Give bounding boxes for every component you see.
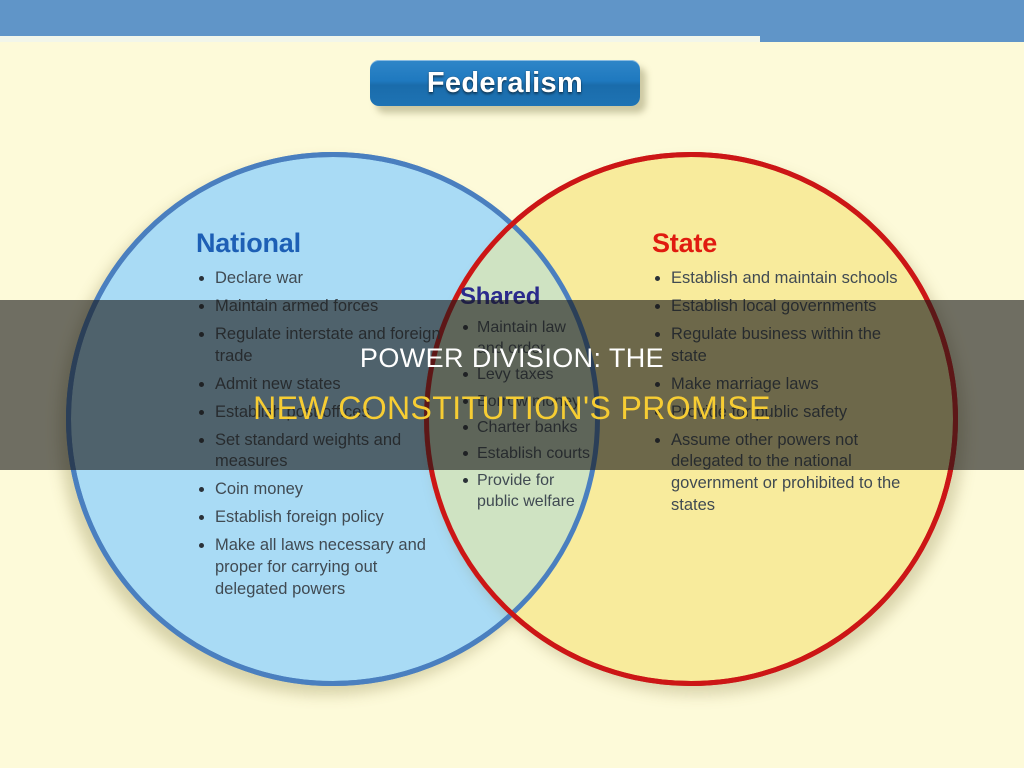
caption-line-2: NEW CONSTITUTION'S PROMISE bbox=[253, 390, 771, 427]
list-item: Provide for public welfare bbox=[460, 470, 590, 513]
caption-overlay: POWER DIVISION: THE NEW CONSTITUTION'S P… bbox=[0, 300, 1024, 470]
list-item: Establish and maintain schools bbox=[652, 268, 904, 290]
list-item: Coin money bbox=[196, 479, 446, 501]
federalism-title-plaque: Federalism bbox=[370, 60, 640, 106]
list-item: Make all laws necessary and proper for c… bbox=[196, 535, 446, 601]
list-item: Establish foreign policy bbox=[196, 507, 446, 529]
slide-canvas: Federalism National Declare war Maintain… bbox=[0, 0, 1024, 768]
list-item: Declare war bbox=[196, 268, 446, 290]
caption-line-1: POWER DIVISION: THE bbox=[360, 343, 664, 374]
page-title: Federalism bbox=[427, 67, 583, 100]
national-heading: National bbox=[196, 226, 446, 262]
state-heading: State bbox=[652, 226, 904, 262]
